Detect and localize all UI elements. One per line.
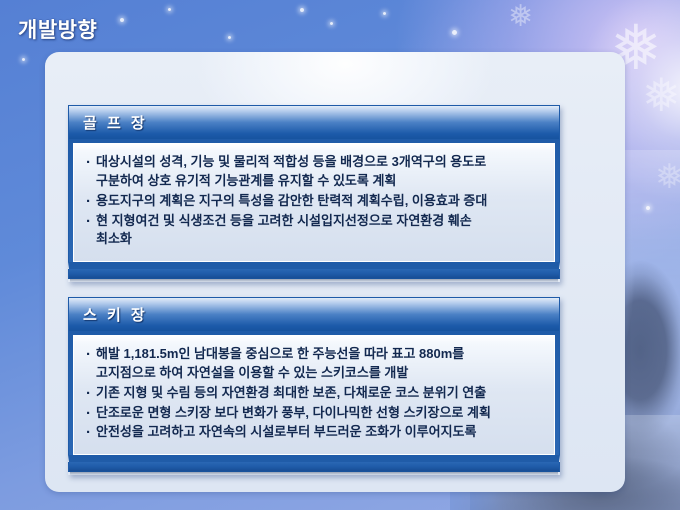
- snow-dot: [330, 22, 333, 25]
- bullet-list-ski: 해발 1,181.5m인 남대봉을 중심으로 한 주능선을 따라 표고 880m…: [84, 345, 544, 442]
- section-shadow-ski: [70, 472, 558, 475]
- section-box-ski: 스 키 장 해발 1,181.5m인 남대봉을 중심으로 한 주능선을 따라 표…: [68, 297, 560, 475]
- snowflake-icon: ❅: [655, 160, 680, 194]
- list-item: 기존 지형 및 수림 등의 자연환경 최대한 보존, 다채로운 코스 분위기 연…: [84, 384, 544, 403]
- section-header-label: 골 프 장: [83, 112, 148, 133]
- list-item: 안전성을 고려하고 자연속의 시설로부터 부드러운 조화가 이루어지도록: [84, 423, 544, 442]
- list-item: 대상시설의 성격, 기능 및 물리적 적합성 등을 배경으로 3개역구의 용도로…: [84, 153, 544, 191]
- presentation-slide: ❅ ❅ ❅ ❅ ❅ 개발방향 골 프 장 대상시설의 성격, 기능 및 물리적 …: [0, 0, 680, 510]
- section-header-ski: 스 키 장: [68, 297, 560, 331]
- section-box-golf: 골 프 장 대상시설의 성격, 기능 및 물리적 적합성 등을 배경으로 3개역…: [68, 105, 560, 282]
- snow-dot: [383, 12, 386, 15]
- snow-dot: [300, 8, 304, 12]
- section-footer-golf: [68, 269, 560, 279]
- section-header-golf: 골 프 장: [68, 105, 560, 139]
- section-shadow-golf: [70, 279, 558, 282]
- snow-dot: [168, 8, 171, 11]
- list-item: 단조로운 면형 스키장 보다 변화가 풍부, 다이나믹한 선형 스키장으로 계획: [84, 404, 544, 423]
- snow-dot: [120, 18, 124, 22]
- section-body-ski: 해발 1,181.5m인 남대봉을 중심으로 한 주능선을 따라 표고 880m…: [68, 331, 560, 462]
- snowflake-icon: ❅: [642, 72, 680, 118]
- snow-dot: [646, 206, 650, 210]
- section-inner-golf: 대상시설의 성격, 기능 및 물리적 적합성 등을 배경으로 3개역구의 용도로…: [73, 143, 555, 262]
- page-title: 개발방향: [18, 14, 97, 44]
- list-item: 용도지구의 계획은 지구의 특성을 감안한 탄력적 계획수립, 이용효과 증대: [84, 192, 544, 211]
- bullet-list-golf: 대상시설의 성격, 기능 및 물리적 적합성 등을 배경으로 3개역구의 용도로…: [84, 153, 544, 249]
- section-footer-ski: [68, 462, 560, 472]
- section-body-golf: 대상시설의 성격, 기능 및 물리적 적합성 등을 배경으로 3개역구의 용도로…: [68, 139, 560, 269]
- list-item: 현 지형여건 및 식생조건 등을 고려한 시설입지선정으로 자연환경 훼손 최소…: [84, 212, 544, 250]
- snowflake-icon: ❅: [508, 2, 533, 32]
- snow-dot: [22, 58, 25, 61]
- section-header-label: 스 키 장: [83, 304, 148, 325]
- snow-dot: [228, 36, 231, 39]
- section-inner-ski: 해발 1,181.5m인 남대봉을 중심으로 한 주능선을 따라 표고 880m…: [73, 335, 555, 455]
- snow-dot: [452, 30, 457, 35]
- list-item: 해발 1,181.5m인 남대봉을 중심으로 한 주능선을 따라 표고 880m…: [84, 345, 544, 383]
